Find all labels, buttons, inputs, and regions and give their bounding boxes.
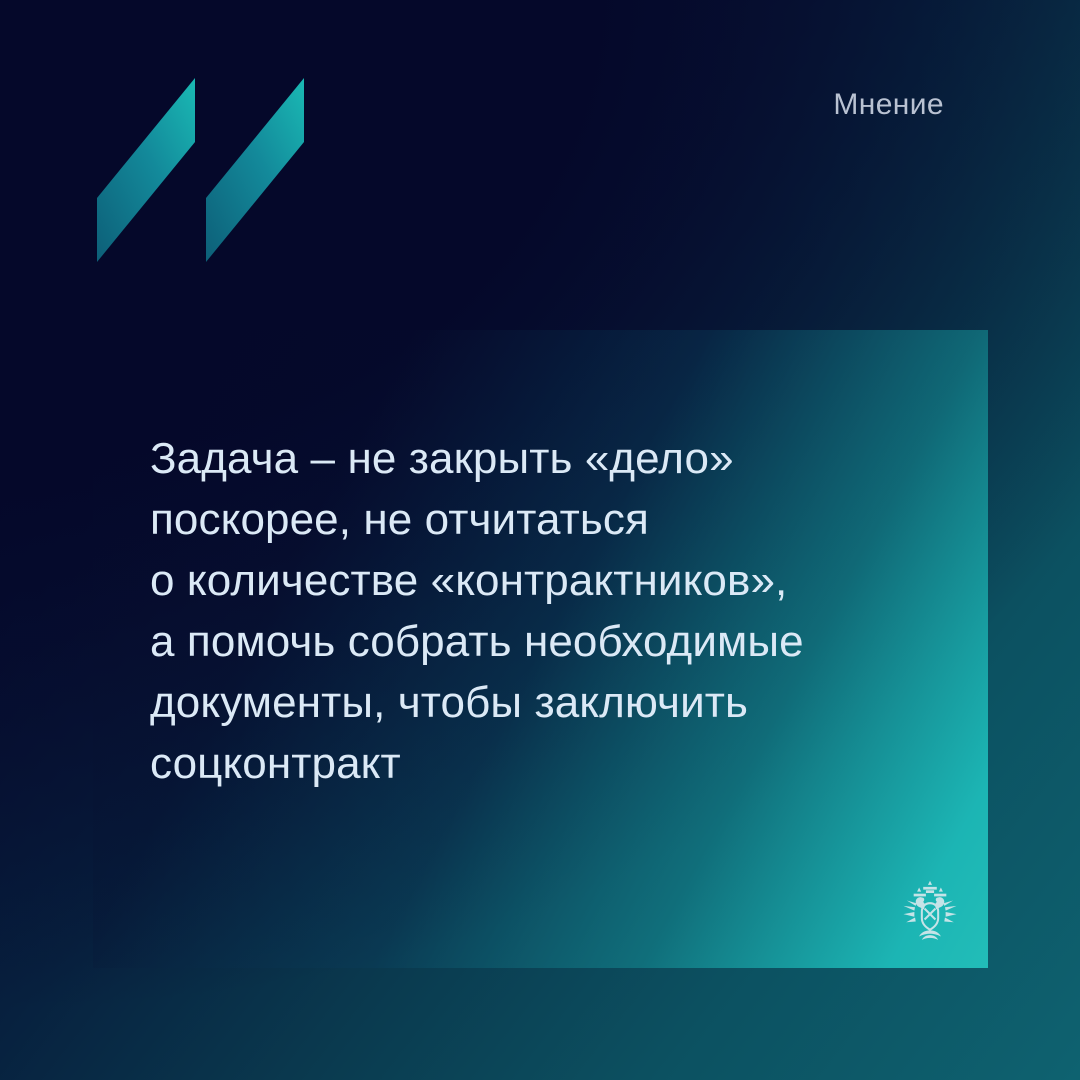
quote-text: Задача ‒ не закрыть «дело» поскорее, не … xyxy=(150,428,940,794)
quote-line: а помочь собрать необходимые xyxy=(150,611,940,672)
quote-line: документы, чтобы заключить xyxy=(150,672,940,733)
quote-line: о количестве «контрактников», xyxy=(150,550,940,611)
category-label: Мнение xyxy=(833,88,944,122)
quote-line: поскорее, не отчитаться xyxy=(150,489,940,550)
logo-bar-left xyxy=(97,78,195,262)
social-quote-card: Мнение Задача ‒ не закрыть «дело» поскор… xyxy=(0,0,1080,1080)
brand-logo[interactable] xyxy=(93,74,313,266)
quote-line: соцконтракт xyxy=(150,733,940,794)
quote-line: Задача ‒ не закрыть «дело» xyxy=(150,428,940,489)
double-headed-eagle-emblem-icon xyxy=(896,876,964,944)
logo-bar-right xyxy=(206,78,304,262)
